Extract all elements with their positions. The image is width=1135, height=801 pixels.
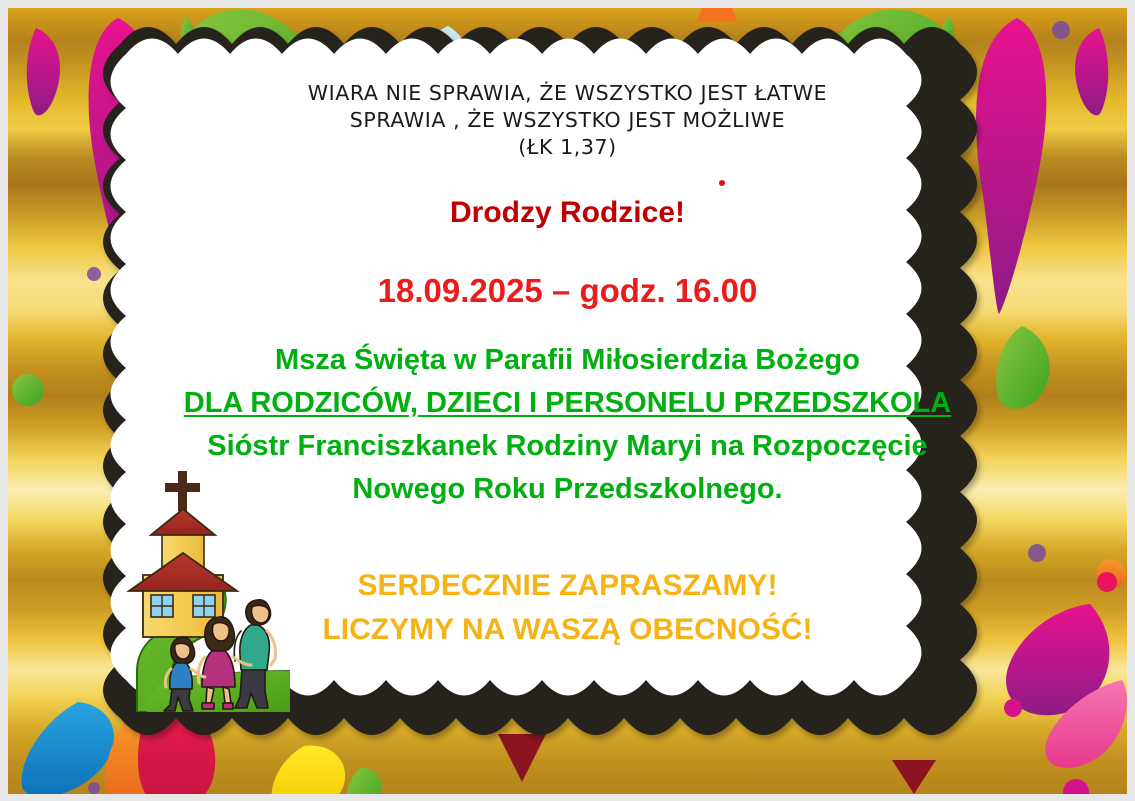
- description-line-4: Nowego Roku Przedszkolnego.: [0, 468, 1135, 511]
- poster-root: WIARA NIE SPRAWIA, ŻE WSZYSTKO JEST ŁATW…: [0, 0, 1135, 801]
- event-description: Msza Święta w Parafii Miłosierdzia Bożeg…: [0, 339, 1135, 511]
- description-line-2-audience: DLA RODZICÓW, DZIECI I PERSONELU PRZEDSZ…: [0, 382, 1135, 425]
- greeting-heading: Drodzy Rodzice!: [0, 196, 1135, 230]
- quote-reference: (ŁK 1,37): [0, 134, 1135, 161]
- quote-line-2: SPRAWIA , ŻE WSZYSTKO JEST MOŻLIWE: [0, 107, 1135, 134]
- invitation-call-to-action: SERDECZNIE ZAPRASZAMY! LICZYMY NA WASZĄ …: [0, 564, 1135, 652]
- invite-line-2: LICZYMY NA WASZĄ OBECNOŚĆ!: [0, 608, 1135, 652]
- red-dot-artifact: [719, 180, 725, 186]
- scripture-quote: WIARA NIE SPRAWIA, ŻE WSZYSTKO JEST ŁATW…: [0, 80, 1135, 161]
- quote-line-1: WIARA NIE SPRAWIA, ŻE WSZYSTKO JEST ŁATW…: [0, 80, 1135, 107]
- invite-line-1: SERDECZNIE ZAPRASZAMY!: [0, 564, 1135, 608]
- description-line-3: Sióstr Franciszkanek Rodziny Maryi na Ro…: [0, 425, 1135, 468]
- description-line-1: Msza Święta w Parafii Miłosierdzia Bożeg…: [0, 339, 1135, 382]
- event-datetime: 18.09.2025 – godz. 16.00: [0, 272, 1135, 310]
- poster-text-content: WIARA NIE SPRAWIA, ŻE WSZYSTKO JEST ŁATW…: [0, 0, 1135, 801]
